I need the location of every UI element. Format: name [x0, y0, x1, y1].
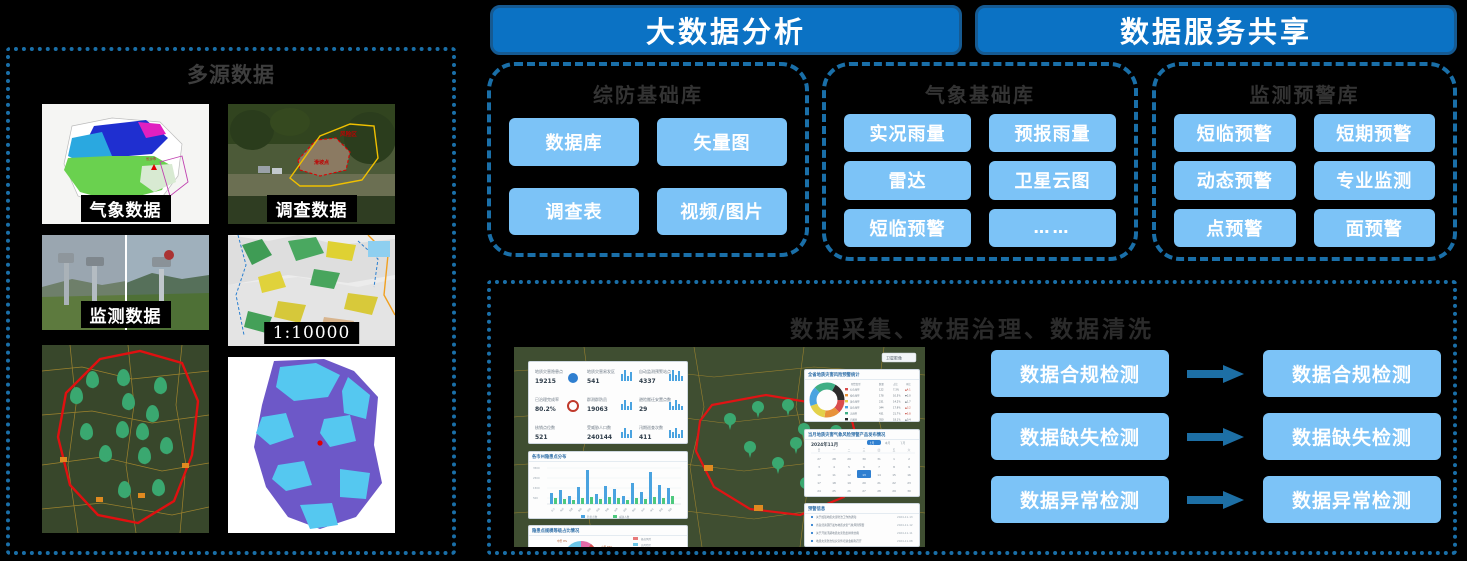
svg-text:株洲: 株洲 [559, 507, 565, 513]
svg-text:日: 日 [818, 448, 821, 452]
svg-text:蓝色预警: 蓝色预警 [850, 406, 860, 410]
svg-text:郴州: 郴州 [631, 507, 637, 513]
svg-text:11: 11 [832, 473, 836, 477]
thumbnail-survey-data[interactable]: 风险区 滑坡点 调查数据 [228, 104, 395, 224]
chip-point-warning[interactable]: 点预警 [1174, 209, 1296, 247]
svg-text:五: 五 [893, 448, 896, 452]
svg-text:卫星影像: 卫星影像 [886, 355, 902, 361]
svg-text:黄色预警: 黄色预警 [850, 400, 860, 404]
svg-text:隐患点数: 隐患点数 [587, 515, 598, 519]
svg-text:数量: 数量 [879, 382, 884, 386]
svg-text:20: 20 [862, 481, 866, 485]
group-title: 气象基础库 [826, 79, 1134, 108]
svg-text:28: 28 [877, 489, 881, 493]
svg-text:122: 122 [879, 389, 884, 392]
svg-text:431: 431 [879, 413, 884, 416]
group-title: 综防基础库 [491, 79, 805, 108]
svg-text:22: 22 [892, 481, 896, 485]
svg-text:12: 12 [847, 473, 851, 477]
thumbnail-caption: 1:10000 [264, 322, 360, 344]
svg-text:无预警: 无预警 [850, 412, 858, 416]
dashboard-pie-chart[interactable]: 隐患点规模等级占比情况 中型 9%小型 86% 大型 3.5%特大型 1.5% … [528, 525, 688, 547]
svg-text:威胁人数: 威胁人数 [619, 515, 630, 519]
chip-area-warning[interactable]: 面预警 [1314, 209, 1436, 247]
banner-label: 数据服务共享 [1120, 9, 1312, 51]
chip-live-rainfall[interactable]: 实况雨量 [844, 114, 971, 152]
chip-short-term-warning[interactable]: 短临预警 [844, 209, 971, 247]
group-meteorological-base: 气象基础库 实况雨量 预报雨量 雷达 卫星云图 短临预警 …… [822, 62, 1138, 261]
svg-text:邵阳: 邵阳 [586, 507, 592, 513]
chip-more[interactable]: …… [989, 209, 1116, 247]
svg-text:滑坡点: 滑坡点 [314, 159, 329, 166]
chip-video-image[interactable]: 视频/图片 [657, 188, 787, 236]
svg-text:21.7%: 21.7% [893, 413, 901, 416]
svg-text:二: 二 [848, 448, 851, 452]
svg-text:省自然资源厅发布地质灾害气象风险预警: 省自然资源厅发布地质灾害气象风险预警 [816, 523, 865, 527]
svg-text:衡阳: 衡阳 [577, 507, 583, 513]
arrow-right-icon [1169, 364, 1263, 384]
svg-text:17.9%: 17.9% [893, 407, 901, 410]
svg-text:411: 411 [639, 434, 652, 441]
svg-text:极高风险: 极高风险 [641, 537, 652, 541]
chip-anomaly-detection-target[interactable]: 数据异常检测 [1263, 476, 1441, 523]
banner-data-service-sharing[interactable]: 数据服务共享 [975, 5, 1457, 55]
chip-dynamic-warning[interactable]: 动态预警 [1174, 161, 1296, 199]
thumbnail-caption: 调查数据 [267, 195, 357, 222]
svg-text:1: 1 [893, 457, 895, 461]
svg-text:178: 178 [879, 395, 884, 398]
svg-text:▼5.8: ▼5.8 [905, 413, 911, 416]
svg-text:红色预警: 红色预警 [850, 388, 860, 392]
svg-text:30: 30 [862, 457, 866, 461]
thumbnail-scale-map[interactable]: 1:10000 [228, 235, 395, 346]
thumbnail-density-map[interactable] [228, 357, 395, 533]
thumbnail-caption: 气象数据 [81, 195, 171, 222]
thumbnail-weather-data[interactable]: 2024-11-14 12时—2024-11-14 12时 24小时降雨量图 长… [42, 104, 209, 224]
svg-text:23: 23 [907, 481, 911, 485]
chip-professional-monitoring[interactable]: 专业监测 [1314, 161, 1436, 199]
chip-compliance-detection-source[interactable]: 数据合规检测 [991, 350, 1169, 397]
svg-text:29: 29 [639, 406, 647, 413]
svg-text:▲3.2: ▲3.2 [905, 407, 911, 410]
svg-text:群测群防员: 群测群防员 [587, 396, 607, 402]
chip-anomaly-detection-source[interactable]: 数据异常检测 [991, 476, 1169, 523]
svg-text:240144: 240144 [587, 434, 612, 441]
svg-text:核销点位数: 核销点位数 [535, 424, 555, 430]
dashboard-screenshot[interactable]: 卫星影像 地质灾害隐患点地质灾害易发区自动监测预警站点 已治理完成率群测群防员避… [514, 347, 925, 547]
svg-text:六: 六 [908, 448, 911, 452]
dashboard-list-card[interactable]: 预警信息 预警信息 通知公告 关于加强地质灾害防治工作的通知2024-11-13… [804, 503, 920, 547]
dashboard-calendar-card[interactable]: 当月地质灾害气象风险预警产品发布情况 2024年11月 上月 本月下月 日一二三… [804, 429, 920, 497]
chip-missing-detection-target[interactable]: 数据缺失检测 [1263, 413, 1441, 460]
svg-text:避险搬迁安置点数: 避险搬迁安置点数 [639, 396, 671, 402]
svg-text:预警类型: 预警类型 [851, 382, 861, 386]
svg-text:中型 9%: 中型 9% [557, 539, 568, 543]
banner-big-data-analysis[interactable]: 大数据分析 [490, 5, 962, 55]
left-panel-title: 多源数据 [10, 59, 452, 89]
svg-text:3: 3 [818, 465, 820, 469]
svg-text:24: 24 [817, 489, 821, 493]
svg-text:2: 2 [908, 457, 910, 461]
svg-text:本月: 本月 [885, 441, 891, 445]
svg-text:8: 8 [893, 465, 895, 469]
svg-text:怀化: 怀化 [649, 506, 655, 512]
svg-text:四: 四 [878, 448, 881, 452]
svg-text:长沙市: 长沙市 [146, 156, 157, 161]
group-title: 监测预警库 [1156, 79, 1453, 108]
svg-text:27: 27 [862, 489, 866, 493]
svg-text:30: 30 [907, 489, 911, 493]
svg-text:小型 86%: 小型 86% [601, 545, 613, 547]
svg-text:一: 一 [833, 448, 836, 452]
svg-text:高风险区: 高风险区 [641, 543, 652, 547]
svg-text:5: 5 [848, 465, 850, 469]
svg-text:1500: 1500 [533, 486, 540, 490]
svg-text:80.2%: 80.2% [535, 406, 556, 413]
chip-survey-form[interactable]: 调查表 [509, 188, 639, 236]
pie-chart-title: 隐患点规模等级占比情况 [529, 526, 687, 536]
svg-text:29: 29 [892, 489, 896, 493]
group-comprehensive-prevention-base: 综防基础库 数据库 矢量图 调查表 视频/图片 [487, 62, 809, 257]
svg-text:地质灾害隐患点: 地质灾害隐患点 [535, 368, 563, 374]
svg-text:永州: 永州 [640, 507, 646, 513]
chip-forecast-rainfall[interactable]: 预报雨量 [989, 114, 1116, 152]
svg-text:29: 29 [847, 457, 851, 461]
svg-text:环比: 环比 [906, 382, 911, 386]
svg-text:4: 4 [833, 465, 835, 469]
svg-text:27: 27 [817, 457, 821, 461]
svg-text:湘西: 湘西 [667, 506, 673, 512]
svg-text:已解除: 已解除 [850, 418, 858, 422]
thumbnail-monitoring-data[interactable]: 监测数据 [42, 235, 209, 330]
svg-text:关于开展汛期地质灾害隐患排查的函: 关于开展汛期地质灾害隐患排查的函 [816, 531, 859, 535]
svg-text:下月: 下月 [900, 441, 906, 445]
arrow-right-icon [1169, 490, 1263, 510]
svg-text:19215: 19215 [535, 378, 556, 385]
svg-text:2024-11-11: 2024-11-11 [897, 531, 913, 535]
chip-vector-map[interactable]: 矢量图 [657, 118, 787, 166]
svg-text:岳阳: 岳阳 [595, 507, 601, 513]
svg-text:19: 19 [847, 481, 851, 485]
svg-text:541: 541 [587, 378, 600, 385]
detection-pipeline: 数据合规检测 数据合规检测 数据缺失检测 数据缺失检测 数据异常检测 [991, 350, 1441, 545]
svg-text:14: 14 [877, 473, 881, 477]
svg-text:汛期巡查次数: 汛期巡查次数 [639, 424, 663, 430]
svg-text:10.5%: 10.5% [893, 395, 901, 398]
arrow-right-icon [1169, 427, 1263, 447]
chip-short-period-warning[interactable]: 短期预警 [1314, 114, 1436, 152]
chip-database[interactable]: 数据库 [509, 118, 639, 166]
svg-text:10: 10 [817, 473, 821, 477]
svg-text:▲0.4: ▲0.4 [905, 419, 911, 422]
thumbnail-satellite-map[interactable] [42, 345, 209, 533]
svg-text:13: 13 [862, 473, 866, 477]
svg-text:橙色预警: 橙色预警 [850, 394, 860, 398]
svg-text:已治理完成率: 已治理完成率 [535, 396, 559, 402]
svg-text:6: 6 [863, 465, 865, 469]
group-monitoring-warning-base: 监测预警库 短临预警 短期预警 动态预警 专业监测 点预警 面预警 [1152, 62, 1457, 261]
svg-text:18: 18 [832, 481, 836, 485]
svg-text:231: 231 [879, 401, 884, 404]
svg-text:16: 16 [907, 473, 911, 477]
svg-text:▼2.0: ▼2.0 [905, 395, 911, 398]
svg-text:19063: 19063 [587, 406, 608, 413]
svg-text:521: 521 [535, 434, 548, 441]
svg-text:长沙: 长沙 [550, 506, 556, 512]
svg-text:7: 7 [878, 465, 880, 469]
svg-text:9: 9 [908, 465, 910, 469]
svg-text:地质灾害防治知识宣传培训会顺利召开: 地质灾害防治知识宣传培训会顺利召开 [816, 539, 862, 543]
data-processing-panel: 数据采集、数据治理、数据清洗 [487, 280, 1457, 555]
svg-text:3500: 3500 [533, 466, 540, 470]
svg-text:占比: 占比 [893, 382, 898, 386]
bottom-panel-title: 数据采集、数据治理、数据清洗 [491, 310, 1453, 344]
svg-text:14.2%: 14.2% [893, 401, 901, 404]
svg-text:风险区: 风险区 [340, 130, 357, 138]
svg-text:受威胁人口数: 受威胁人口数 [587, 424, 611, 430]
svg-text:17: 17 [817, 481, 821, 485]
svg-text:关于加强地质灾害防治工作的通知: 关于加强地质灾害防治工作的通知 [816, 515, 857, 519]
svg-text:7.3%: 7.3% [893, 389, 900, 392]
svg-text:500: 500 [533, 496, 538, 500]
svg-text:26: 26 [847, 489, 851, 493]
svg-text:湘潭: 湘潭 [568, 506, 574, 512]
svg-text:15: 15 [892, 473, 896, 477]
svg-text:张界: 张界 [613, 506, 619, 512]
calendar-title: 当月地质灾害气象风险预警产品发布情况 [805, 430, 919, 440]
svg-text:21: 21 [877, 481, 881, 485]
bar-chart-title: 各市州隐患点分布 [529, 452, 687, 462]
svg-text:18.1%: 18.1% [893, 419, 901, 422]
dashboard-donut-card[interactable]: 全省地质灾害风险预警统计 预警类型数量占比环比 红色预警1227.3%▲4.1 … [804, 369, 920, 422]
svg-text:28: 28 [832, 457, 836, 461]
chip-missing-detection-source[interactable]: 数据缺失检测 [991, 413, 1169, 460]
donut-title: 全省地质灾害风险预警统计 [805, 370, 919, 380]
dashboard-stats-card[interactable]: 地质灾害隐患点地质灾害易发区自动监测预警站点 已治理完成率群测群防员避险搬迁安置… [528, 361, 688, 444]
svg-text:▲4.1: ▲4.1 [905, 389, 911, 392]
svg-text:4337: 4337 [639, 378, 656, 385]
svg-text:娄底: 娄底 [658, 506, 664, 512]
svg-text:2024-11-12: 2024-11-12 [897, 523, 913, 527]
svg-text:344: 344 [879, 407, 884, 410]
svg-text:25: 25 [832, 489, 836, 493]
chip-nowcast-warning[interactable]: 短临预警 [1174, 114, 1296, 152]
svg-text:31: 31 [877, 457, 881, 461]
chip-satellite-cloud[interactable]: 卫星云图 [989, 161, 1116, 199]
chip-radar[interactable]: 雷达 [844, 161, 971, 199]
thumbnail-caption: 监测数据 [81, 301, 171, 328]
svg-text:常德: 常德 [604, 506, 610, 512]
svg-text:地质灾害易发区: 地质灾害易发区 [587, 368, 615, 374]
svg-text:2024-11-13: 2024-11-13 [897, 515, 913, 519]
svg-text:▲1.7: ▲1.7 [905, 401, 911, 404]
svg-text:三: 三 [863, 448, 866, 452]
svg-text:350: 350 [879, 419, 884, 422]
banner-label: 大数据分析 [646, 9, 806, 51]
svg-text:2024-11-08: 2024-11-08 [897, 539, 913, 543]
svg-text:自动监测预警站点: 自动监测预警站点 [639, 368, 671, 374]
svg-text:上月: 上月 [869, 441, 875, 445]
svg-text:益阳: 益阳 [622, 507, 628, 513]
svg-text:2500: 2500 [533, 476, 540, 480]
chip-compliance-detection-target[interactable]: 数据合规检测 [1263, 350, 1441, 397]
dashboard-bar-chart[interactable]: 各市州隐患点分布 350025001500500 [528, 451, 688, 519]
